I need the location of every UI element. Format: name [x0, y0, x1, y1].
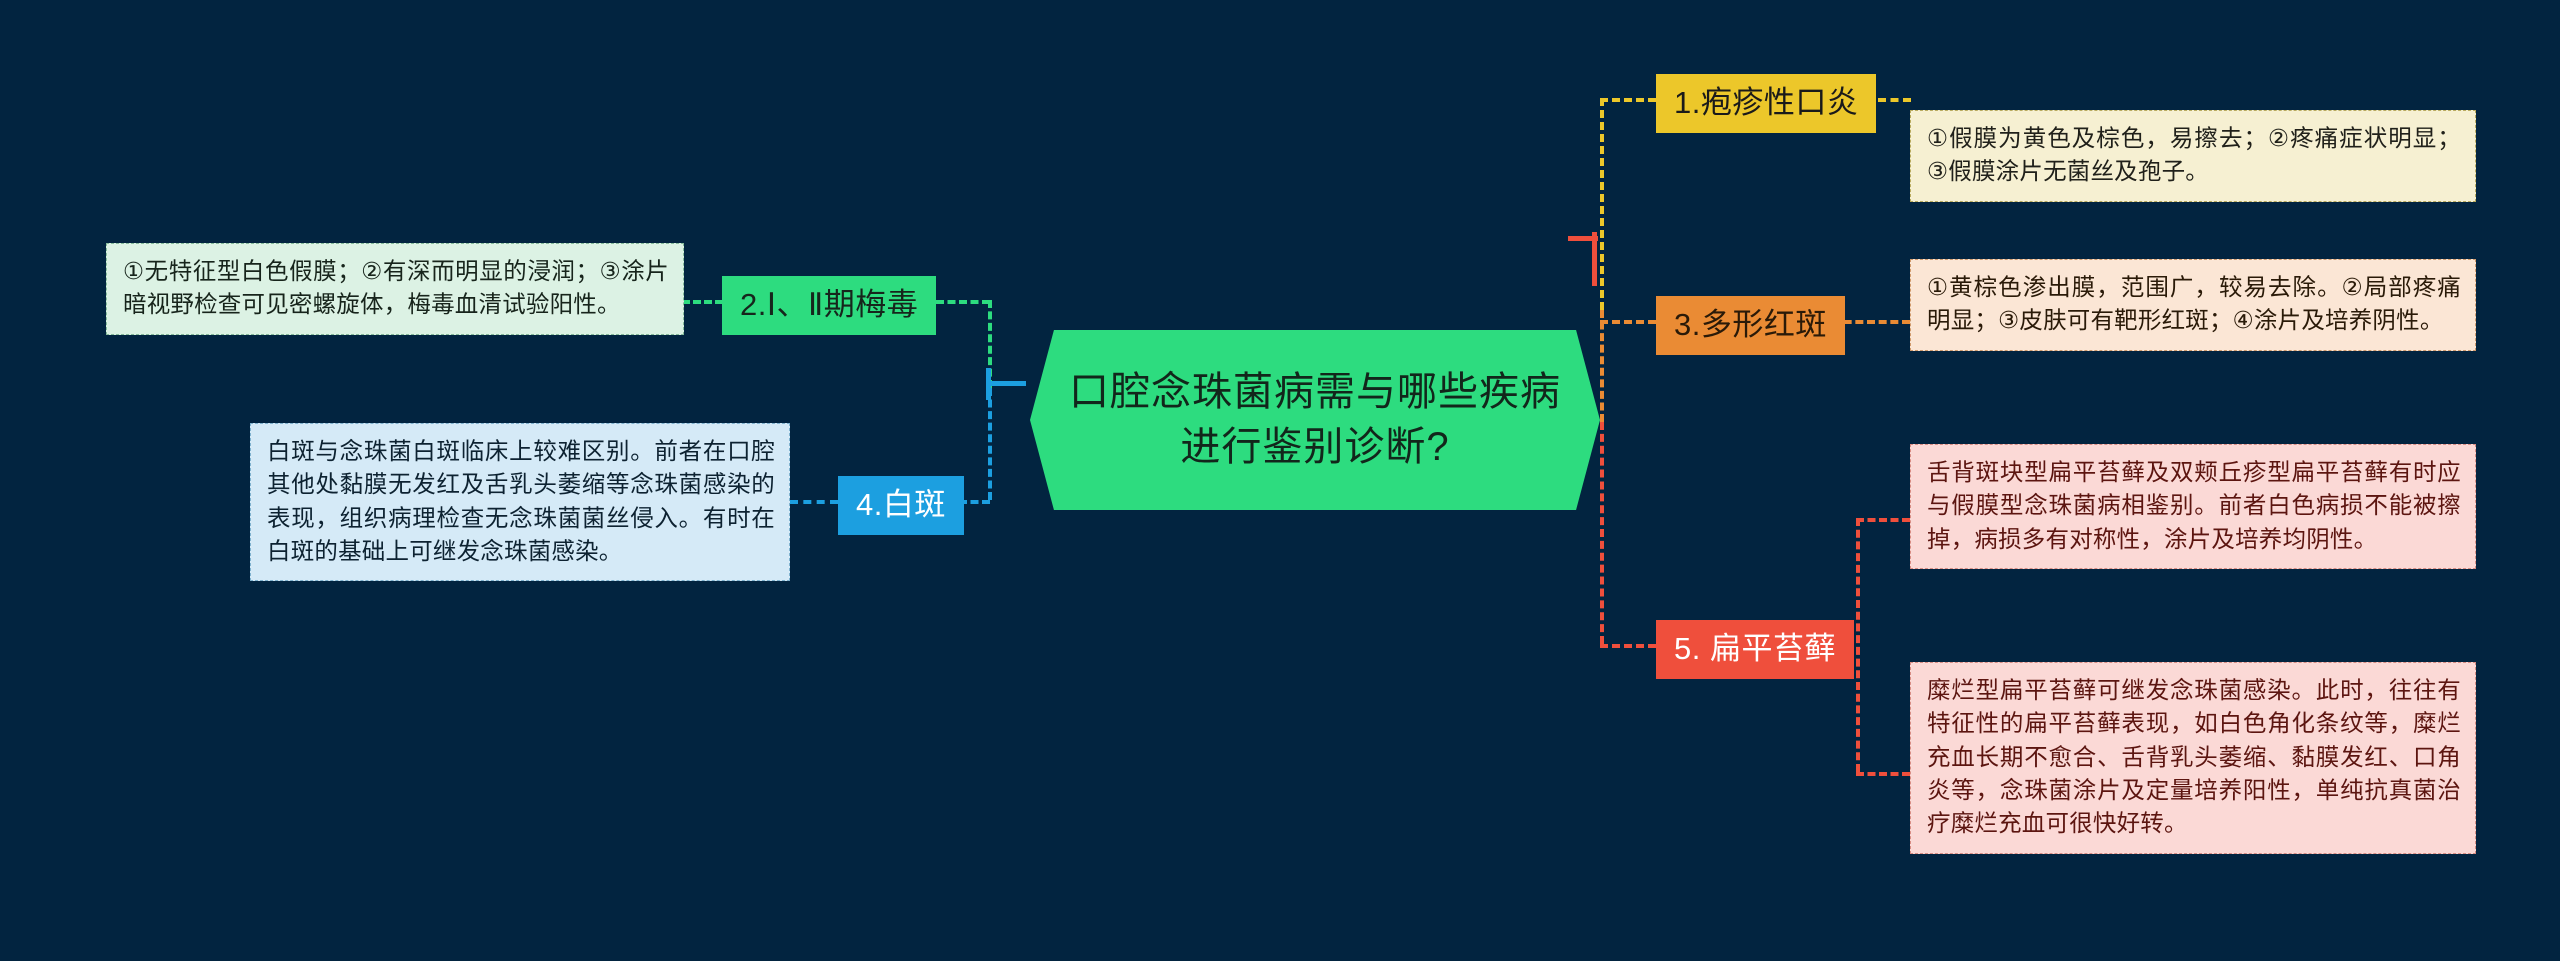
- topic-erythema[interactable]: 3.多形红斑: [1656, 296, 1845, 355]
- connector-center-left-arm: [990, 381, 1026, 386]
- connector-lichen-note-2: [1856, 772, 1910, 776]
- topic-syphilis[interactable]: 2.Ⅰ、Ⅱ期梅毒: [722, 276, 936, 335]
- note-syphilis: ①无特征型白色假膜；②有深而明显的浸润；③涂片暗视野检查可见密螺旋体，梅毒血清试…: [106, 243, 684, 335]
- mindmap-canvas: 口腔念珠菌病需与哪些疾病进行鉴别诊断? 1.疱疹性口炎 3.多形红斑 5. 扁平…: [0, 0, 2560, 961]
- connector-right-trunk-yellow: [1600, 98, 1604, 310]
- connector-right-trunk-red: [1600, 422, 1604, 644]
- note-erythema: ①黄棕色渗出膜，范围广，较易去除。②局部疼痛明显；③皮肤可有靶形红斑；④涂片及培…: [1910, 259, 2476, 351]
- connector-stub-syphilis: [936, 300, 990, 304]
- connector-stub-herpes: [1600, 98, 1656, 102]
- connector-lichen-note-1: [1856, 518, 1910, 522]
- connector-right-trunk-orange: [1600, 310, 1604, 422]
- connector-lichen-subtrunk: [1856, 518, 1860, 772]
- connector-center-right-arm: [1568, 236, 1598, 241]
- connector-stub-lichen: [1600, 644, 1656, 648]
- topic-leukoplakia[interactable]: 4.白斑: [838, 476, 964, 535]
- note-lichen-2: 糜烂型扁平苔藓可继发念珠菌感染。此时，往往有特征性的扁平苔藓表现，如白色角化条纹…: [1910, 662, 2476, 854]
- note-leukoplakia: 白斑与念珠菌白斑临床上较难区别。前者在口腔其他处黏膜无发红及舌乳头萎缩等念珠菌感…: [250, 423, 790, 581]
- note-herpes: ①假膜为黄色及棕色，易擦去；②疼痛症状明显；③假膜涂片无菌丝及孢子。: [1910, 110, 2476, 202]
- connector-left-trunk-blue: [988, 388, 992, 500]
- topic-herpes[interactable]: 1.疱疹性口炎: [1656, 74, 1876, 133]
- topic-lichen-planus[interactable]: 5. 扁平苔藓: [1656, 620, 1854, 679]
- central-topic[interactable]: 口腔念珠菌病需与哪些疾病进行鉴别诊断?: [1030, 330, 1600, 510]
- note-lichen-1: 舌背斑块型扁平苔藓及双颊丘疹型扁平苔藓有时应与假膜型念珠菌病相鉴别。前者白色病损…: [1910, 444, 2476, 569]
- connector-stub-erythema: [1600, 320, 1656, 324]
- connector-leukoplakia-note: [790, 500, 838, 504]
